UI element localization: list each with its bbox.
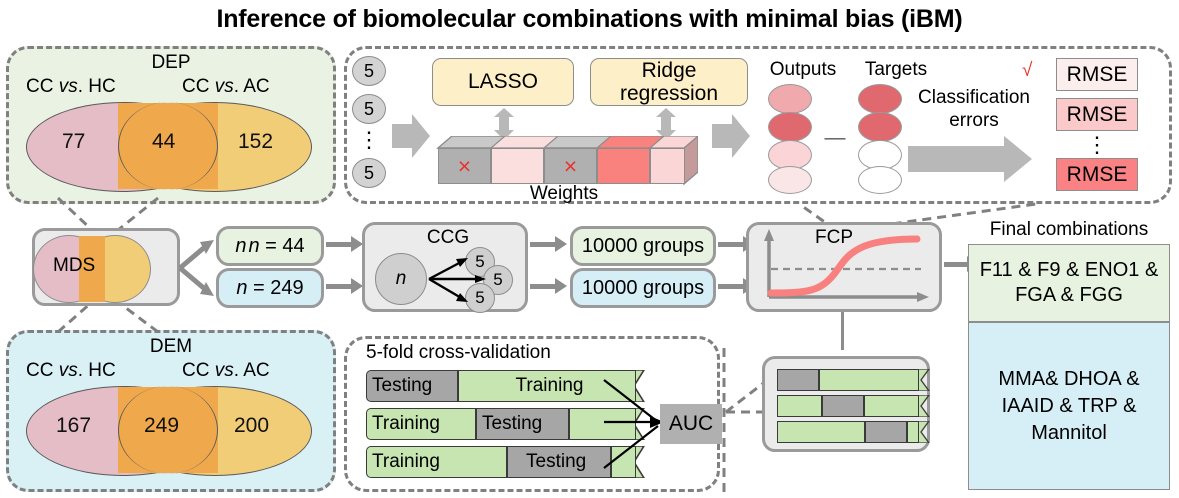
cv-panel-edge-dash	[722, 348, 726, 498]
mini-cv-r1-s1	[777, 369, 819, 391]
ccg-center-circle: n	[375, 253, 427, 305]
mini-cv-row-2	[777, 395, 925, 417]
mini-cv-r3-s2	[865, 421, 907, 443]
target-circle-1	[858, 84, 902, 114]
cv-r2-seg2: Testing	[477, 413, 542, 435]
arrow-ccg-to-groups-top	[530, 242, 556, 247]
weights-to-outputs-arrow	[712, 112, 752, 160]
weights-label: Weights	[430, 182, 698, 206]
cv-r1-seg1: Testing	[367, 375, 432, 397]
dep-right-count: 152	[238, 130, 273, 154]
output-circle-2	[768, 112, 812, 142]
final-box-top: F11 & F9 & ENO1 & FGA & FGG	[968, 244, 1170, 322]
arrow-fcp-to-final	[944, 262, 968, 267]
groups-box-top: 10000 groups	[570, 226, 716, 266]
groups-box-bottom: 10000 groups	[570, 268, 716, 308]
cv-title: 5-fold cross-validation	[366, 342, 551, 364]
fcp-box: FCP	[746, 222, 942, 312]
final-heading: Final combinations	[964, 218, 1174, 242]
dep-left-count: 77	[62, 130, 85, 154]
auc-box: AUC	[660, 404, 722, 444]
dep-overlap-count: 44	[152, 130, 175, 154]
dem-right-count: 200	[234, 414, 269, 438]
arrow-n249-to-ccg	[326, 284, 352, 289]
output-circle-1	[768, 84, 812, 114]
targets-label: Targets	[856, 58, 936, 82]
ccg-label: CCG	[365, 227, 531, 249]
n-box-bottom: n = 249	[216, 268, 324, 308]
target-circle-2	[858, 112, 902, 142]
fcp-to-minicv-line	[841, 312, 844, 350]
dem-left-count: 167	[56, 414, 91, 438]
target-circle-4	[858, 166, 902, 194]
ridge-box: Ridge regression	[590, 58, 748, 106]
outputs-label: Outputs	[760, 58, 846, 82]
dem-right-label: CC vs. AC	[182, 360, 270, 382]
n-box-top: nn = 44n = 44	[216, 226, 324, 266]
mini-cv-box	[762, 356, 930, 452]
dem-title-text: DEM	[6, 334, 336, 360]
arrow-n44-to-ccg	[326, 242, 352, 247]
lasso-box: LASSO	[432, 58, 574, 106]
mini-cv-r2-s1	[777, 395, 822, 417]
model-input-1: 5	[352, 56, 386, 86]
dem-left-label: CC vs. HC	[26, 360, 116, 382]
model-input-dots: ⋮	[352, 126, 386, 154]
mini-cv-row-3	[777, 421, 925, 443]
final-box-bottom: MMA& DHOA & IAAID & TRP & Mannitol	[968, 322, 1170, 490]
dep-venn: 77 44 152	[20, 100, 320, 192]
mini-cv-r2-s2	[822, 395, 864, 417]
dem-venn: 167 249 200	[20, 384, 320, 476]
rmse-check-icon: √	[1022, 60, 1032, 82]
errors-line1: Classification	[918, 87, 1030, 108]
mini-cv-r3-s1	[777, 421, 865, 443]
rmse-box-2: RMSE	[1056, 98, 1138, 131]
rmse-dots: ⋮	[1056, 132, 1138, 158]
fcp-label: FCP	[815, 227, 853, 249]
cv-r3-seg2: Testing	[508, 451, 586, 473]
arrow-groups-to-fcp-top	[718, 242, 744, 247]
errors-arrow	[908, 136, 1034, 182]
mds-label: MDS	[53, 255, 95, 277]
arrow-groups-to-fcp-bottom	[718, 284, 744, 289]
mini-cv-r3-s3	[907, 421, 919, 443]
mini-cv-r2-s3	[864, 395, 919, 417]
classification-errors-label: Classification errors	[912, 86, 1036, 132]
model-input-2: 5	[352, 94, 386, 124]
dep-left-label: CC vs. HC	[26, 76, 116, 98]
weights-bar: × ×	[430, 136, 698, 186]
arrow-ccg-to-groups-bottom	[530, 284, 556, 289]
ccg-branch-arrows	[423, 247, 493, 317]
ccg-box: CCG n 5 5 5	[362, 222, 528, 312]
model-input-3: 5	[352, 158, 386, 188]
page-title: Inference of biomolecular combinations w…	[0, 2, 1179, 36]
minus-sign: —	[818, 128, 852, 148]
mds-split-arrows	[176, 228, 220, 308]
rmse-box-3: RMSE	[1056, 158, 1138, 191]
dep-title-text: DEP	[6, 50, 336, 76]
mds-box: MDS	[32, 228, 180, 306]
cv-r2-seg1: Training	[367, 413, 440, 435]
mini-cv-r1-s2	[819, 369, 919, 391]
output-circle-4	[768, 166, 812, 194]
errors-line2: errors	[949, 110, 999, 131]
mini-cv-row-1	[777, 369, 925, 391]
rmse-box-1: RMSE	[1056, 58, 1138, 91]
dep-right-label: CC vs. AC	[182, 76, 270, 98]
model-input-arrow	[392, 112, 432, 160]
cv-r3-seg1: Training	[367, 451, 440, 473]
dem-overlap-count: 249	[144, 414, 179, 438]
